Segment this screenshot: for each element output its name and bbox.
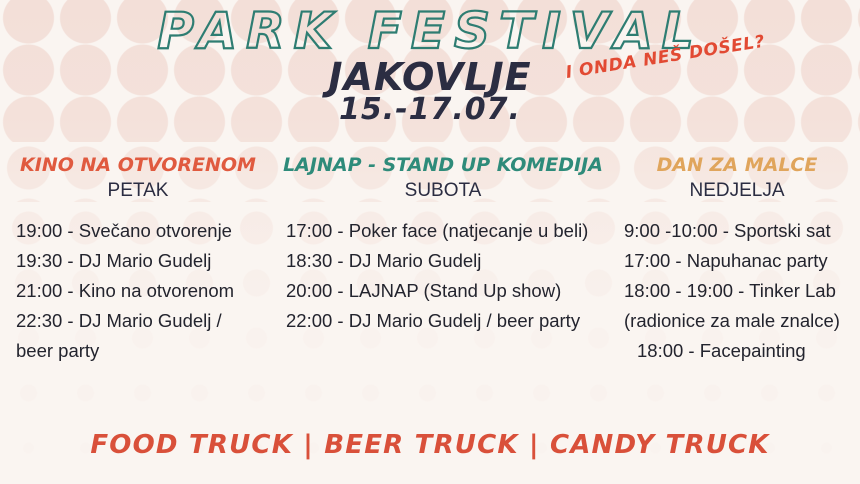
festival-location: JAKOVLJE [0, 58, 860, 96]
food-trucks-banner: FOOD TRUCK | BEER TRUCK | CANDY TRUCK [0, 432, 860, 458]
column-day-label: SUBOTA [278, 180, 608, 202]
column-day-label: NEDJELJA [614, 180, 860, 202]
schedule-column-sunday: DAN ZA MALCE NEDJELJA 9:00 -10:00 - Spor… [614, 155, 860, 366]
schedule-column-saturday: LAJNAP - STAND UP KOMEDIJA SUBOTA 17:00 … [278, 155, 608, 336]
schedule-list: 9:00 -10:00 - Sportski sat 17:00 - Napuh… [624, 216, 860, 366]
schedule-item: beer party [16, 336, 272, 366]
schedule-item: 21:00 - Kino na otvorenom [16, 276, 272, 306]
schedule-item: 17:00 - Poker face (natjecanje u beli) [286, 216, 608, 246]
schedule-item: 18:00 - 19:00 - Tinker Lab [624, 276, 860, 306]
schedule-item: (radionice za male znalce) [624, 306, 860, 336]
schedule-list: 19:00 - Svečano otvorenje 19:30 - DJ Mar… [16, 216, 272, 366]
schedule-item: 17:00 - Napuhanac party [624, 246, 860, 276]
schedule-item: 20:00 - LAJNAP (Stand Up show) [286, 276, 608, 306]
schedule-item: 22:00 - DJ Mario Gudelj / beer party [286, 306, 608, 336]
column-heading: DAN ZA MALCE [614, 155, 860, 177]
festival-dates: 15.-17.07. [0, 95, 860, 125]
schedule-item: 22:30 - DJ Mario Gudelj / [16, 306, 272, 336]
schedule-item: 9:00 -10:00 - Sportski sat [624, 216, 860, 246]
schedule-item: 18:00 - Facepainting [624, 336, 860, 366]
column-heading: LAJNAP - STAND UP KOMEDIJA [278, 155, 608, 177]
column-day-label: PETAK [4, 180, 272, 202]
poster-content: PARK FESTIVAL JAKOVLJE 15.-17.07. I ONDA… [0, 0, 860, 484]
schedule-item: 18:30 - DJ Mario Gudelj [286, 246, 608, 276]
schedule-column-friday: KINO NA OTVORENOM PETAK 19:00 - Svečano … [4, 155, 272, 366]
schedule-list: 17:00 - Poker face (natjecanje u beli) 1… [286, 216, 608, 336]
schedule-item: 19:00 - Svečano otvorenje [16, 216, 272, 246]
schedule-item: 19:30 - DJ Mario Gudelj [16, 246, 272, 276]
festival-poster: PARK FESTIVAL JAKOVLJE 15.-17.07. I ONDA… [0, 0, 860, 484]
column-heading: KINO NA OTVORENOM [4, 155, 272, 177]
